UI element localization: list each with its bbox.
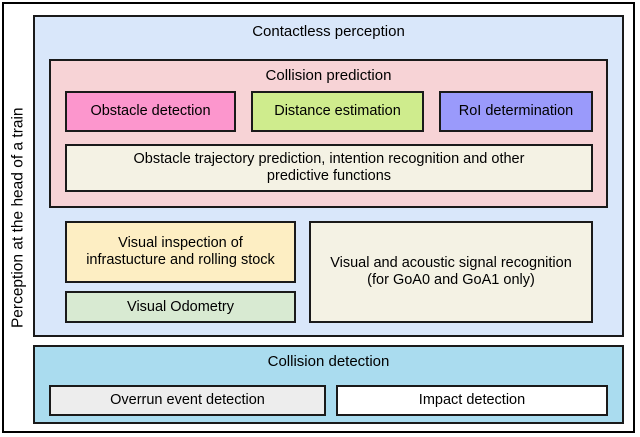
- node-impact-detection-label: Impact detection: [419, 392, 525, 409]
- node-overrun-event-detection-label: Overrun event detection: [110, 392, 265, 409]
- node-visual-inspection-line1: Visual inspection of: [86, 235, 275, 252]
- group-collision-prediction-title: Collision prediction: [266, 67, 392, 84]
- node-visual-inspection: Visual inspection of infrastucture and r…: [65, 221, 296, 283]
- vertical-axis-label: Perception at the head of a train: [4, 4, 32, 431]
- node-obstacle-detection: Obstacle detection: [65, 91, 236, 132]
- node-distance-estimation-label: Distance estimation: [274, 103, 401, 120]
- node-signal-recognition-line1: Visual and acoustic signal recognition: [330, 255, 572, 272]
- node-obstacle-trajectory-prediction-text: Obstacle trajectory prediction, intentio…: [134, 151, 525, 184]
- node-obstacle-trajectory-prediction: Obstacle trajectory prediction, intentio…: [65, 144, 593, 192]
- node-signal-recognition: Visual and acoustic signal recognition (…: [309, 221, 593, 323]
- node-obstacle-trajectory-prediction-line1: Obstacle trajectory prediction, intentio…: [134, 151, 525, 168]
- group-contactless-perception-title: Contactless perception: [252, 23, 405, 40]
- node-visual-inspection-line2: infrastucture and rolling stock: [86, 252, 275, 269]
- node-signal-recognition-line2: (for GoA0 and GoA1 only): [330, 272, 572, 289]
- node-visual-odometry: Visual Odometry: [65, 291, 296, 323]
- diagram-frame: Perception at the head of a train Contac…: [2, 2, 635, 433]
- node-roi-determination-label: RoI determination: [459, 103, 573, 120]
- node-signal-recognition-text: Visual and acoustic signal recognition (…: [330, 255, 572, 288]
- node-obstacle-detection-label: Obstacle detection: [90, 103, 210, 120]
- node-obstacle-trajectory-prediction-line2: predictive functions: [134, 168, 525, 185]
- node-impact-detection: Impact detection: [336, 385, 608, 416]
- group-collision-detection-title: Collision detection: [268, 353, 390, 370]
- node-visual-odometry-label: Visual Odometry: [127, 299, 234, 316]
- node-overrun-event-detection: Overrun event detection: [49, 385, 326, 416]
- vertical-axis-label-text: Perception at the head of a train: [10, 107, 26, 328]
- node-roi-determination: RoI determination: [439, 91, 593, 132]
- node-distance-estimation: Distance estimation: [251, 91, 424, 132]
- node-visual-inspection-text: Visual inspection of infrastucture and r…: [86, 235, 275, 268]
